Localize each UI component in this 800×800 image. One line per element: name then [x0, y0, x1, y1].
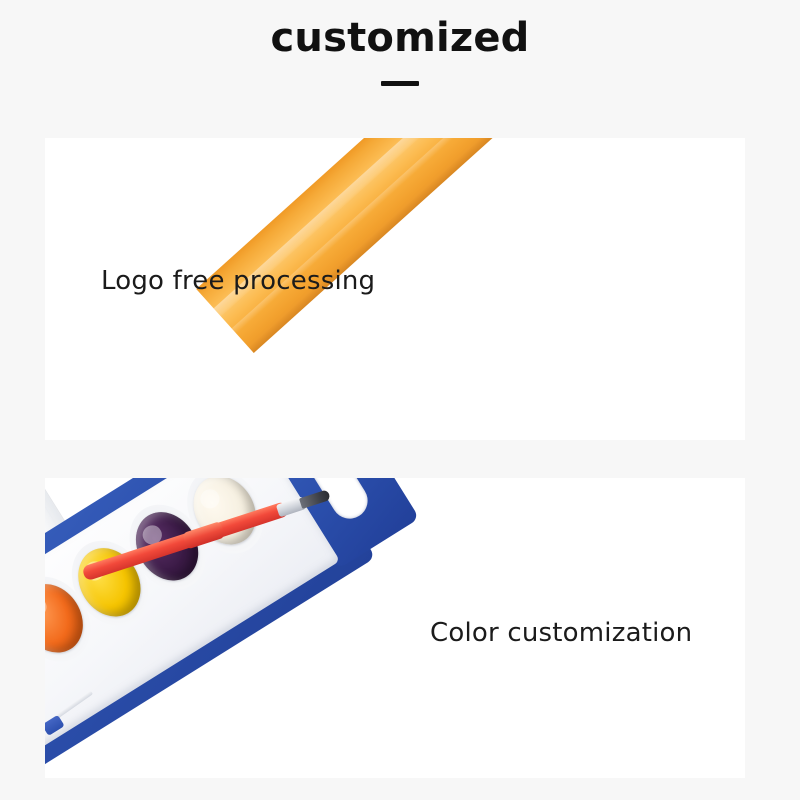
pencil-logo-imprint: LOGO — [426, 138, 605, 144]
title-divider — [381, 81, 419, 86]
panel-logo-free-processing: LOGO Logo free processing — [45, 138, 745, 440]
page-header: customized — [0, 0, 800, 86]
pencil-body: LOGO — [196, 138, 745, 353]
panel-caption-logo-free-processing: Logo free processing — [101, 266, 375, 296]
paint-palette-insert — [45, 478, 340, 758]
panel-caption-color-customization: Color customization — [430, 618, 692, 648]
page-title: customized — [0, 14, 800, 62]
panel-color-customization: Color customization — [45, 478, 745, 778]
